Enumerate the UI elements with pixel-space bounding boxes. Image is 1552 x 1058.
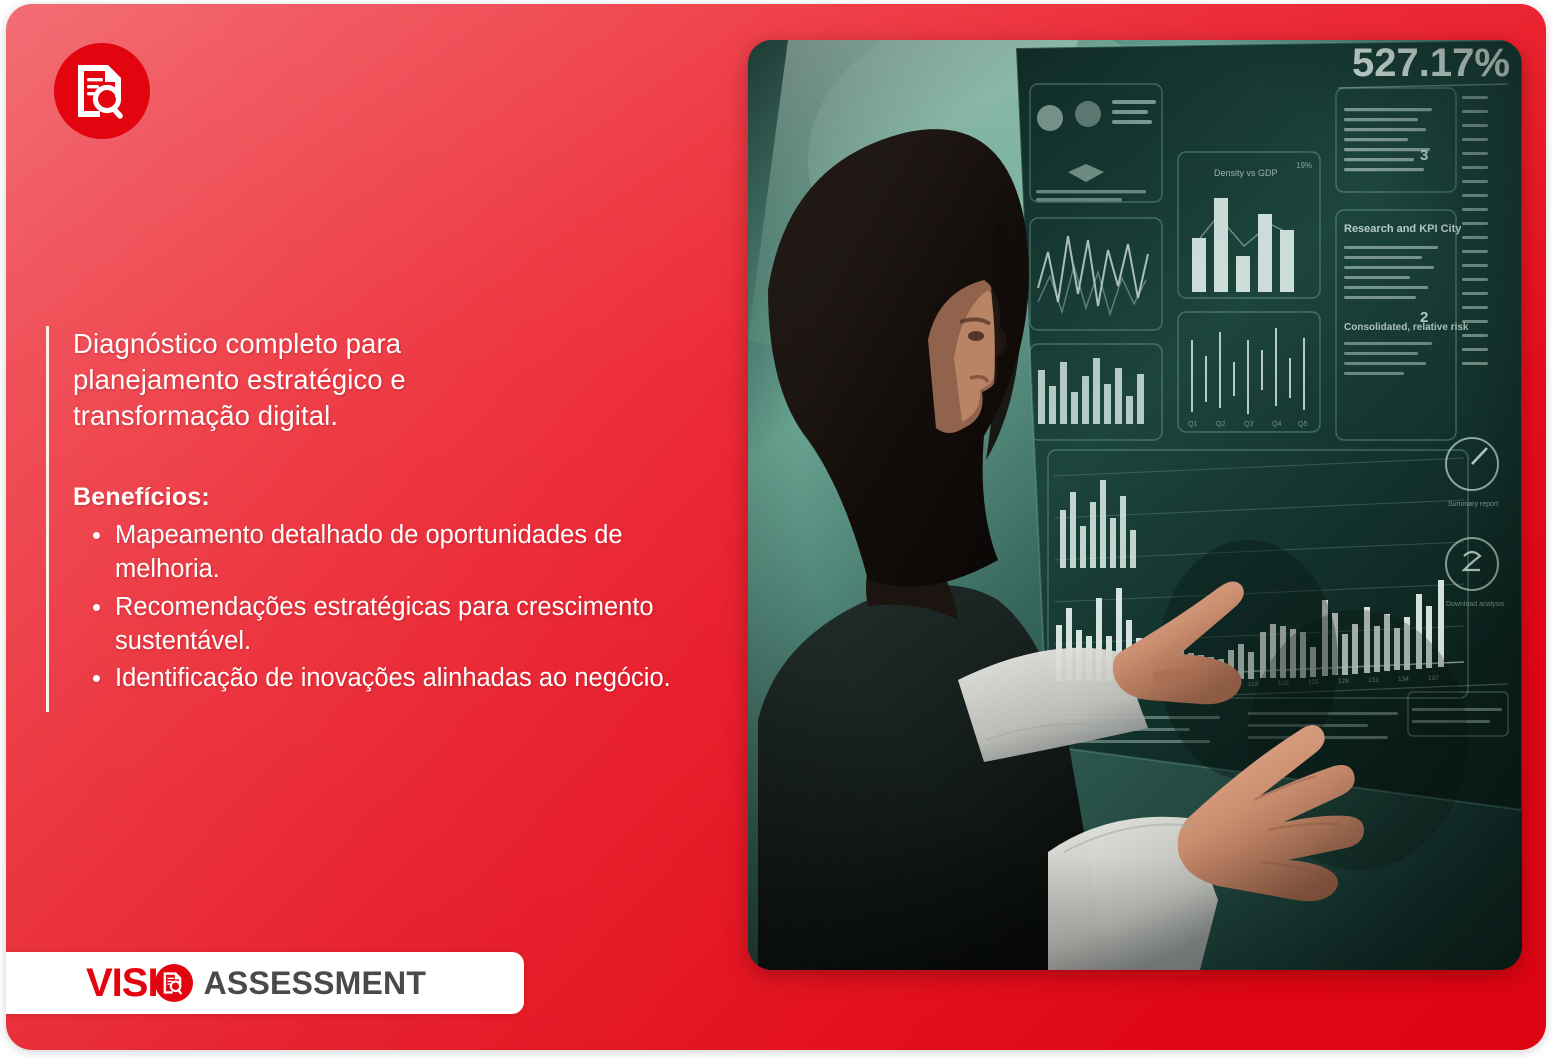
benefits-list: Mapeamento detalhado de oportunidades de… [73,518,696,695]
document-search-icon [74,62,130,120]
poster-canvas: Diagnóstico completo para planejamento e… [0,0,1552,1058]
lead-paragraph: Diagnóstico completo para planejamento e… [73,326,543,433]
brand-badge [54,43,150,139]
promo-card: Diagnóstico completo para planejamento e… [6,4,1546,1050]
wordmark-assessment: ASSESSMENT [204,967,426,999]
list-item: Recomendações estratégicas para crescime… [77,590,696,658]
brand-logo-bar: VISI ASSESSMENT [6,952,524,1014]
brand-logo-lockup: VISI ASSESSMENT [86,963,426,1003]
list-item: Mapeamento detalhado de oportunidades de… [77,518,696,586]
hero-photo: 527.17% [748,40,1522,970]
document-search-icon [155,964,193,1002]
benefits-heading: Benefícios: [73,483,696,512]
list-item: Identificação de inovações alinhadas ao … [77,661,696,695]
copy-block: Diagnóstico completo para planejamento e… [46,326,696,712]
rule-tail [73,698,696,712]
wordmark-visio: VISI [86,963,158,1003]
